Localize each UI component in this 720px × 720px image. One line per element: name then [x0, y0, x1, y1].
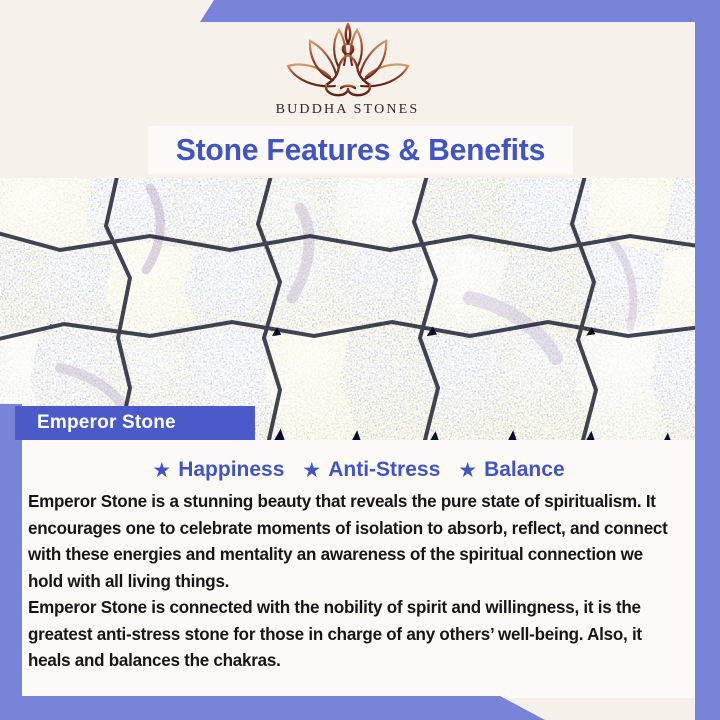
lotus-meditation-icon	[273, 22, 423, 100]
star-icon: ★	[152, 460, 171, 481]
benefits-row: ★ Happiness ★ Anti-Stress ★ Balance	[22, 458, 695, 482]
benefit-label: Balance	[484, 458, 565, 482]
stone-name-text: Emperor Stone	[37, 412, 176, 434]
page-title: Stone Features & Benefits	[176, 132, 545, 168]
benefit-item-balance: ★ Balance	[458, 458, 564, 482]
accent-bar-right-upper	[695, 0, 720, 460]
description-paragraph-1: Emperor Stone is a stunning beauty that …	[28, 488, 675, 594]
lapis-lazuli-image	[0, 178, 720, 440]
title-plate: Stone Features & Benefits	[148, 126, 573, 174]
description-panel: ★ Happiness ★ Anti-Stress ★ Balance Empe…	[22, 440, 695, 698]
benefit-item-happiness: ★ Happiness	[152, 458, 284, 482]
benefit-label: Happiness	[178, 458, 284, 482]
accent-bar-bottom	[0, 696, 545, 720]
accent-bar-top-right	[200, 0, 720, 22]
description-paragraph-2: Emperor Stone is connected with the nobi…	[28, 594, 675, 674]
description-copy: Emperor Stone is a stunning beauty that …	[28, 488, 685, 674]
stone-photo	[0, 178, 720, 440]
benefit-label: Anti-Stress	[328, 458, 440, 482]
accent-bar-left	[0, 404, 22, 720]
infographic-poster: BUDDHA STONES Stone Features & Benefits	[0, 0, 720, 720]
brand-name: BUDDHA STONES	[276, 102, 420, 118]
star-icon: ★	[458, 460, 477, 481]
benefit-item-anti-stress: ★ Anti-Stress	[302, 458, 440, 482]
stone-name-badge: Emperor Stone	[15, 406, 255, 440]
brand-logo: BUDDHA STONES	[0, 22, 695, 118]
star-icon: ★	[302, 460, 321, 481]
accent-bar-right-lower	[695, 440, 720, 720]
